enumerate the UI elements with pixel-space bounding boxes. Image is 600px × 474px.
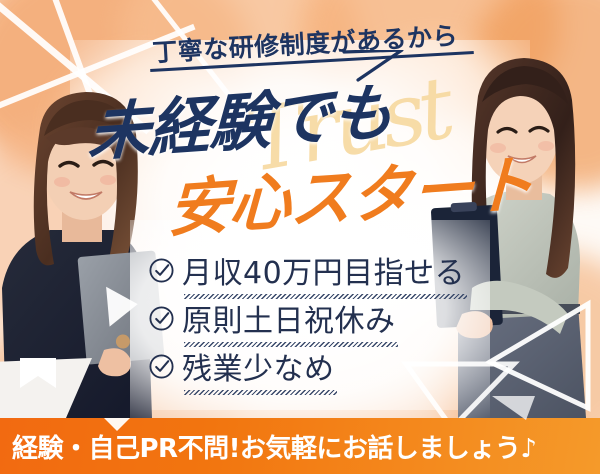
feature-label: 原則土日祝休み bbox=[182, 304, 396, 339]
triangle-notch-icon-right bbox=[492, 396, 535, 420]
wavy-underline bbox=[184, 390, 337, 395]
check-circle-icon bbox=[148, 257, 175, 284]
job-ad-banner: Trust 丁寧な研修制度があるから 未経験でも 安心スタート 月収40万円目指… bbox=[0, 0, 600, 474]
feature-label: 月収40万円目指せる bbox=[182, 256, 465, 291]
feature-label: 残業少なめ bbox=[182, 352, 335, 387]
feature-list: 月収40万円目指せる 原則土日祝休み 残業少なめ bbox=[148, 246, 465, 390]
cta-text: 経験・自己PR不問!お気軽にお話しましょう♪ bbox=[0, 428, 537, 465]
check-circle-icon bbox=[148, 305, 175, 332]
list-item: 原則土日祝休み bbox=[148, 294, 465, 342]
list-item: 月収40万円目指せる bbox=[148, 246, 465, 294]
triangle-notch-icon bbox=[104, 418, 130, 431]
cta-bar[interactable]: 経験・自己PR不問!お気軽にお話しましょう♪ bbox=[0, 418, 600, 474]
list-item: 残業少なめ bbox=[148, 342, 465, 390]
check-circle-icon bbox=[148, 353, 175, 380]
